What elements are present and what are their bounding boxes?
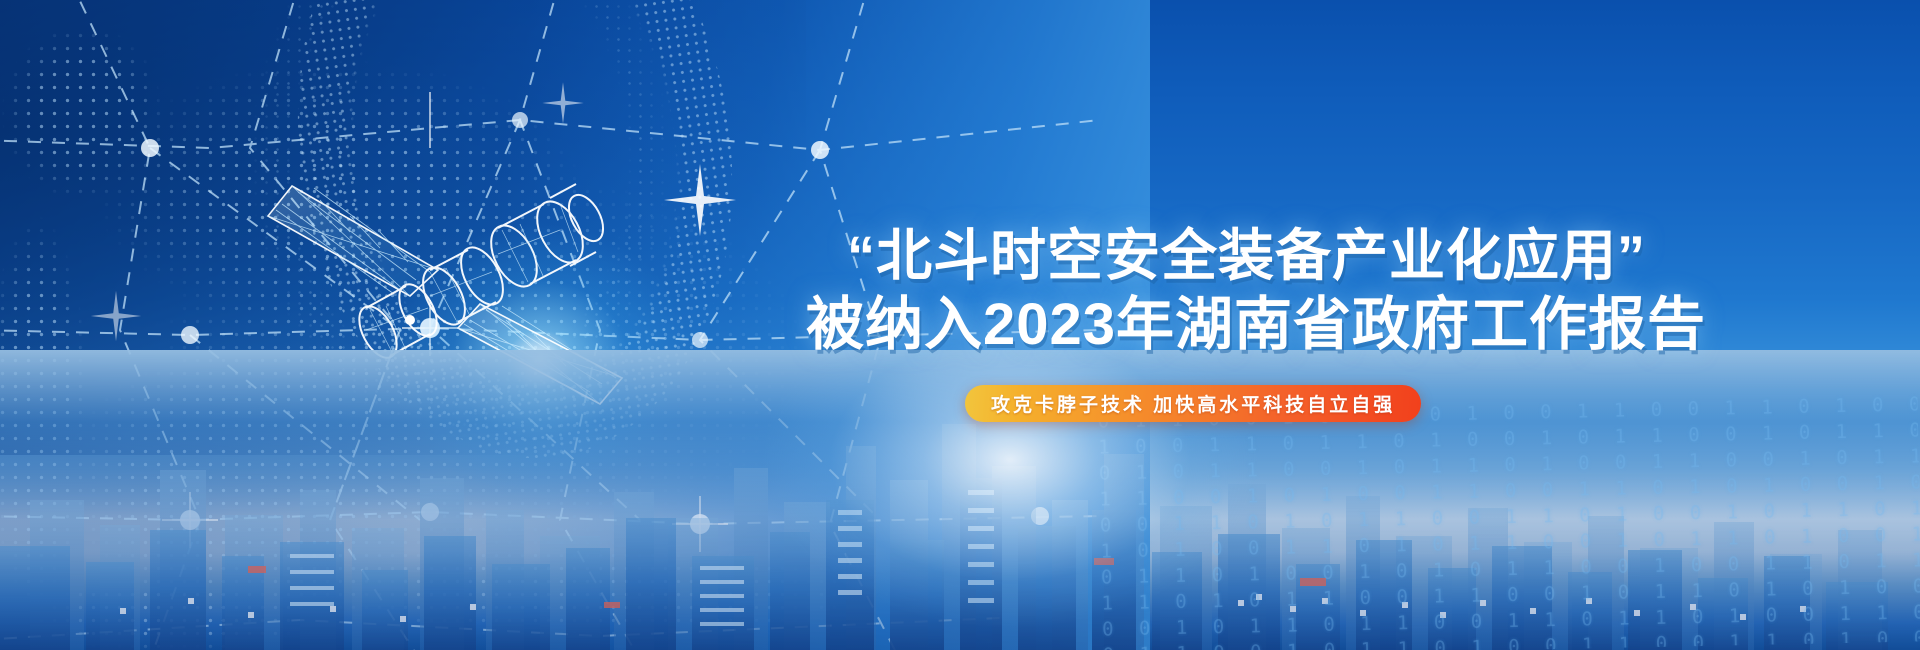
slogan-badge[interactable]: 攻克卡脖子技术 加快高水平科技自立自强 (965, 385, 1421, 422)
slogan-badge-label: 攻克卡脖子技术 加快高水平科技自立自强 (991, 390, 1395, 417)
banner-root: 0 1 1 0 0 1 0 1 1 0 1 0 0 1 1 0 0 1 1 0 … (0, 0, 1920, 650)
binary-code-overlay: 0 1 1 0 0 1 0 1 1 0 1 0 0 1 1 0 0 1 1 0 … (1097, 391, 1920, 650)
